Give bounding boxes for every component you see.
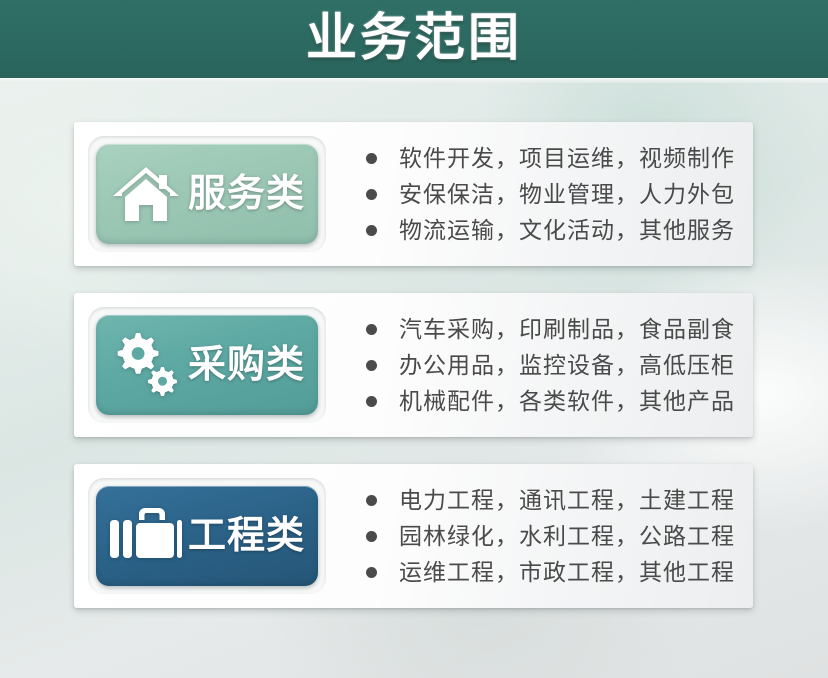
- category-badge-engineering[interactable]: 工程类: [96, 486, 318, 586]
- list-item: 办公用品，监控设备，高低压柜: [366, 347, 735, 383]
- house-icon: [108, 158, 184, 230]
- list-item: 电力工程，通讯工程，土建工程: [366, 482, 735, 518]
- badge-frame-engineering: 工程类: [88, 478, 326, 594]
- list-item-text: 软件开发，项目运维，视频制作: [399, 147, 735, 170]
- item-list-engineering: 电力工程，通讯工程，土建工程 园林绿化，水利工程，公路工程 运维工程，市政工程，…: [326, 482, 753, 590]
- list-item: 机械配件，各类软件，其他产品: [366, 383, 735, 419]
- list-item-text: 电力工程，通讯工程，土建工程: [399, 489, 735, 512]
- list-item-text: 汽车采购，印刷制品，食品副食: [399, 318, 735, 341]
- category-card-service: 服务类 软件开发，项目运维，视频制作 安保保洁，物业管理，人力外包 物流运输，文…: [74, 122, 753, 266]
- category-badge-service[interactable]: 服务类: [96, 144, 318, 244]
- list-item: 软件开发，项目运维，视频制作: [366, 140, 735, 176]
- badge-frame-service: 服务类: [88, 136, 326, 252]
- list-item: 园林绿化，水利工程，公路工程: [366, 518, 735, 554]
- list-item: 汽车采购，印刷制品，食品副食: [366, 311, 735, 347]
- bullet-icon: [366, 531, 377, 542]
- item-list-procurement: 汽车采购，印刷制品，食品副食 办公用品，监控设备，高低压柜 机械配件，各类软件，…: [326, 311, 753, 419]
- list-item: 安保保洁，物业管理，人力外包: [366, 176, 735, 212]
- badge-label-service: 服务类: [188, 175, 305, 213]
- page-title: 业务范围: [306, 12, 522, 67]
- bullet-icon: [366, 324, 377, 335]
- header-band: 业务范围: [0, 0, 828, 78]
- poster-root: 业务范围 服务类: [0, 0, 828, 678]
- list-item-text: 机械配件，各类软件，其他产品: [399, 390, 735, 413]
- list-item: 物流运输，文化活动，其他服务: [366, 212, 735, 248]
- list-item-text: 办公用品，监控设备，高低压柜: [399, 354, 735, 377]
- bullet-icon: [366, 567, 377, 578]
- list-item: 运维工程，市政工程，其他工程: [366, 554, 735, 590]
- list-item-text: 安保保洁，物业管理，人力外包: [399, 183, 735, 206]
- bullet-icon: [366, 225, 377, 236]
- bullet-icon: [366, 189, 377, 200]
- badge-frame-procurement: 采购类: [88, 307, 326, 423]
- category-card-engineering: 工程类 电力工程，通讯工程，土建工程 园林绿化，水利工程，公路工程 运维工程，市…: [74, 464, 753, 608]
- category-badge-procurement[interactable]: 采购类: [96, 315, 318, 415]
- bullet-icon: [366, 396, 377, 407]
- category-card-procurement: 采购类 汽车采购，印刷制品，食品副食 办公用品，监控设备，高低压柜 机械配件，各…: [74, 293, 753, 437]
- badge-label-engineering: 工程类: [188, 517, 305, 555]
- header-underline: [0, 78, 828, 83]
- briefcase-icon: [108, 500, 184, 572]
- list-item-text: 运维工程，市政工程，其他工程: [399, 561, 735, 584]
- badge-label-procurement: 采购类: [188, 346, 305, 384]
- list-item-text: 物流运输，文化活动，其他服务: [399, 219, 735, 242]
- bullet-icon: [366, 153, 377, 164]
- category-card-list: 服务类 软件开发，项目运维，视频制作 安保保洁，物业管理，人力外包 物流运输，文…: [74, 122, 753, 608]
- gears-icon: [108, 329, 184, 401]
- bullet-icon: [366, 495, 377, 506]
- bullet-icon: [366, 360, 377, 371]
- item-list-service: 软件开发，项目运维，视频制作 安保保洁，物业管理，人力外包 物流运输，文化活动，…: [326, 140, 753, 248]
- list-item-text: 园林绿化，水利工程，公路工程: [399, 525, 735, 548]
